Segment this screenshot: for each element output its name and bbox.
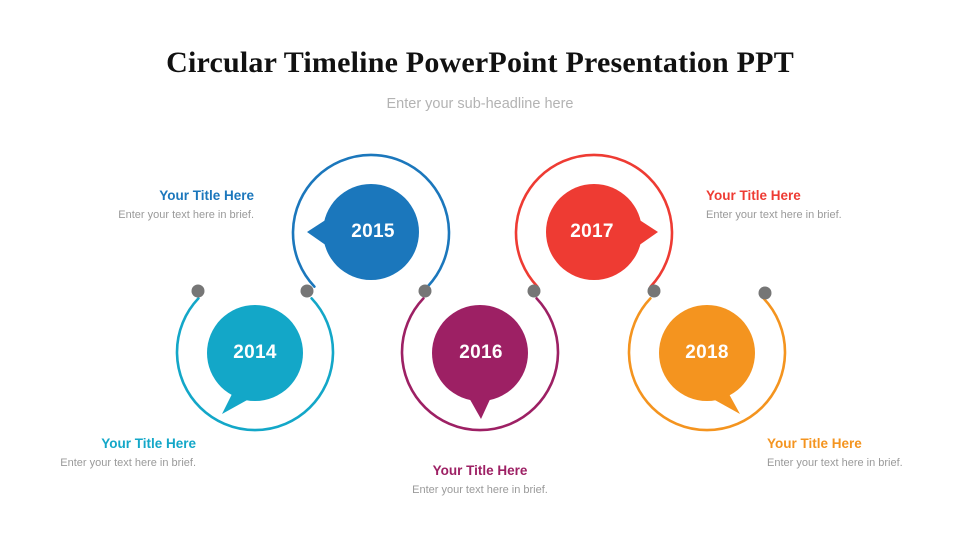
connector-dot [419,285,432,298]
connector-dot [301,285,314,298]
milestone-bubble-2017[interactable] [546,184,658,280]
slide-canvas: Circular Timeline PowerPoint Presentatio… [0,0,960,540]
caption-2014[interactable]: Your Title Here Enter your text here in … [0,436,196,470]
caption-desc-2018: Enter your text here in brief. [767,456,960,470]
milestone-bubble-2014[interactable] [207,305,303,414]
caption-2018[interactable]: Your Title Here Enter your text here in … [767,436,960,470]
milestone-bubble-2015[interactable] [307,184,419,280]
connector-dot [528,285,541,298]
caption-title-2016: Your Title Here [375,463,585,479]
caption-title-2018: Your Title Here [767,436,960,452]
milestone-bubble-2016[interactable] [432,305,528,419]
caption-2015[interactable]: Your Title Here Enter your text here in … [44,188,254,222]
connector-dot [759,287,772,300]
caption-title-2015: Your Title Here [44,188,254,204]
connector-dot [648,285,661,298]
caption-2016[interactable]: Your Title Here Enter your text here in … [375,463,585,497]
connector-dot [192,285,205,298]
caption-desc-2015: Enter your text here in brief. [44,208,254,222]
caption-desc-2014: Enter your text here in brief. [0,456,196,470]
caption-desc-2016: Enter your text here in brief. [375,483,585,497]
caption-desc-2017: Enter your text here in brief. [706,208,916,222]
milestone-bubble-2018[interactable] [659,305,755,414]
caption-2017[interactable]: Your Title Here Enter your text here in … [706,188,916,222]
caption-title-2017: Your Title Here [706,188,916,204]
caption-title-2014: Your Title Here [0,436,196,452]
